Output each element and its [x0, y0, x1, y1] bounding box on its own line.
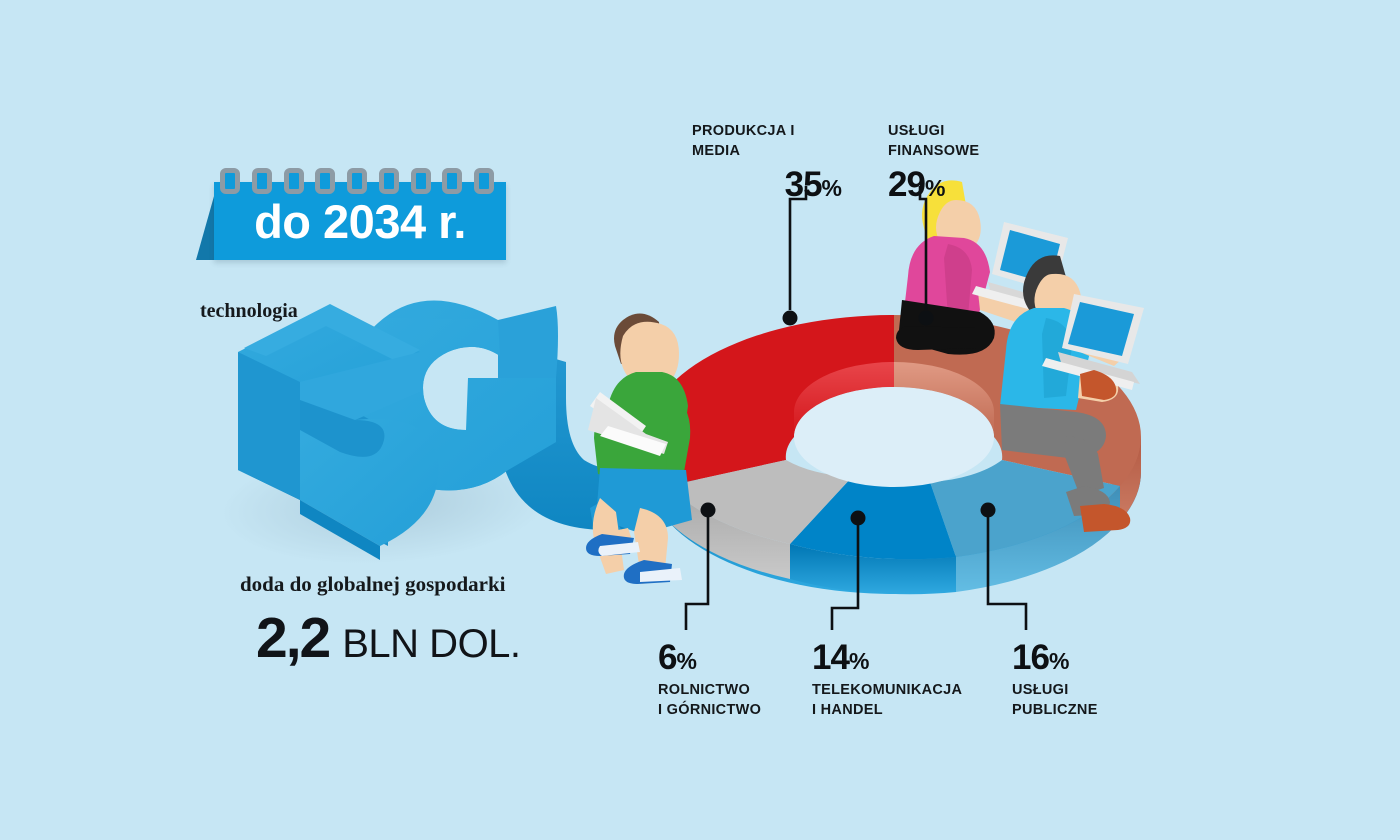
calendar-ring-icon: [284, 168, 304, 194]
calendar-rings: [220, 168, 494, 196]
calendar-ring-icon: [347, 168, 367, 194]
callout-label-finansowe: USŁUGI FINANSOWE: [888, 122, 1040, 161]
callout-label-produkcja: PRODUKCJA I MEDIA: [692, 122, 842, 161]
callout-value-rolnictwo: 6%: [658, 640, 761, 675]
calendar-year-text: do 2034 r.: [254, 198, 466, 245]
infographic-canvas: do 2034 r. technologia doda do globalnej…: [0, 0, 1400, 840]
callout-produkcja-i-media: PRODUKCJA I MEDIA 35%: [692, 122, 842, 202]
callout-value-finansowe: 29%: [888, 167, 1040, 202]
leader-produkcja: [790, 186, 806, 310]
calendar-ring-icon: [315, 168, 335, 194]
callout-value-telekomunikacja: 14%: [812, 640, 962, 675]
callout-value-produkcja: 35%: [692, 167, 842, 202]
callout-value-publiczne: 16%: [1012, 640, 1098, 675]
callout-uslugi-publiczne: 16% USŁUGI PUBLICZNE: [1012, 640, 1098, 720]
calendar-ring-icon: [379, 168, 399, 194]
person-left-green-shirt: [586, 313, 692, 584]
calendar-ring-icon: [252, 168, 272, 194]
callout-label-publiczne: USŁUGI PUBLICZNE: [1012, 681, 1098, 720]
callout-label-rolnictwo: ROLNICTWO I GÓRNICTWO: [658, 681, 761, 720]
calendar-ring-icon: [442, 168, 462, 194]
callout-telekomunikacja-i-handel: 14% TELEKOMUNIKACJA I HANDEL: [812, 640, 962, 720]
calendar-ring-icon: [474, 168, 494, 194]
callout-uslugi-finansowe: USŁUGI FINANSOWE 29%: [888, 122, 1040, 202]
callout-rolnictwo-i-gornictwo: 6% ROLNICTWO I GÓRNICTWO: [658, 640, 761, 720]
callout-label-telekomunikacja: TELEKOMUNIKACJA I HANDEL: [812, 681, 962, 720]
calendar-ring-icon: [220, 168, 240, 194]
donut-hole: [794, 387, 994, 487]
calendar-ring-icon: [411, 168, 431, 194]
